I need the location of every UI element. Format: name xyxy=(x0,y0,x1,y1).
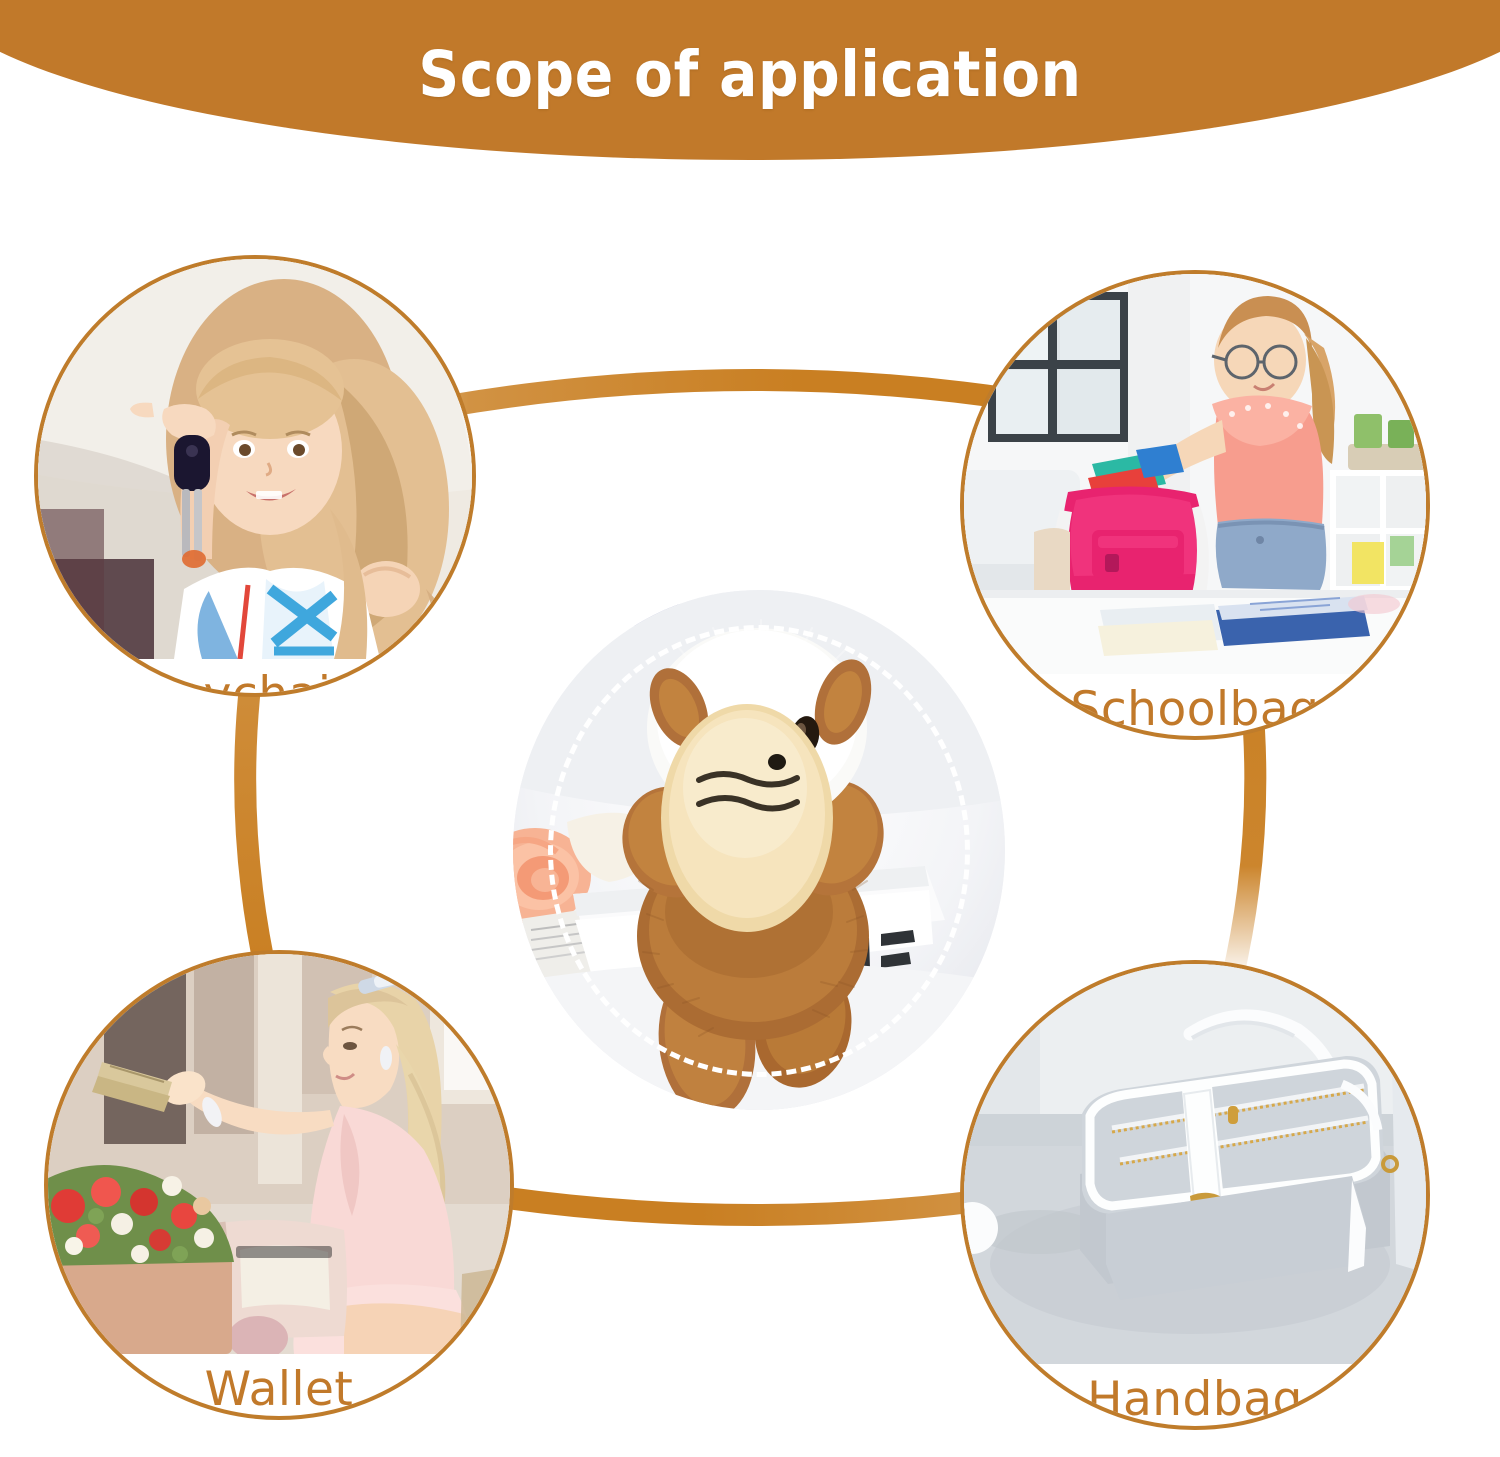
bubble-wallet[interactable]: Wallet xyxy=(44,950,514,1420)
bubble-schoolbag[interactable]: Schoolbag xyxy=(960,270,1430,740)
photo-wallet xyxy=(48,954,510,1354)
bubble-label-keychain: keychain xyxy=(38,667,472,697)
photo-handbag xyxy=(964,964,1426,1364)
bubble-handbag[interactable]: Handbag xyxy=(960,960,1430,1430)
photo-schoolbag xyxy=(964,274,1426,674)
bubble-label-handbag: Handbag xyxy=(964,1372,1426,1427)
bubble-label-schoolbag: Schoolbag xyxy=(964,682,1426,737)
page-title: Scope of application xyxy=(0,38,1500,111)
infographic-canvas: Scope of application xyxy=(0,0,1500,1457)
bubble-keychain[interactable]: keychain xyxy=(34,255,476,697)
bubble-label-wallet: Wallet xyxy=(48,1362,510,1417)
header-banner: Scope of application xyxy=(0,0,1500,190)
center-product-image[interactable] xyxy=(513,590,1005,1110)
photo-keychain xyxy=(38,259,472,659)
